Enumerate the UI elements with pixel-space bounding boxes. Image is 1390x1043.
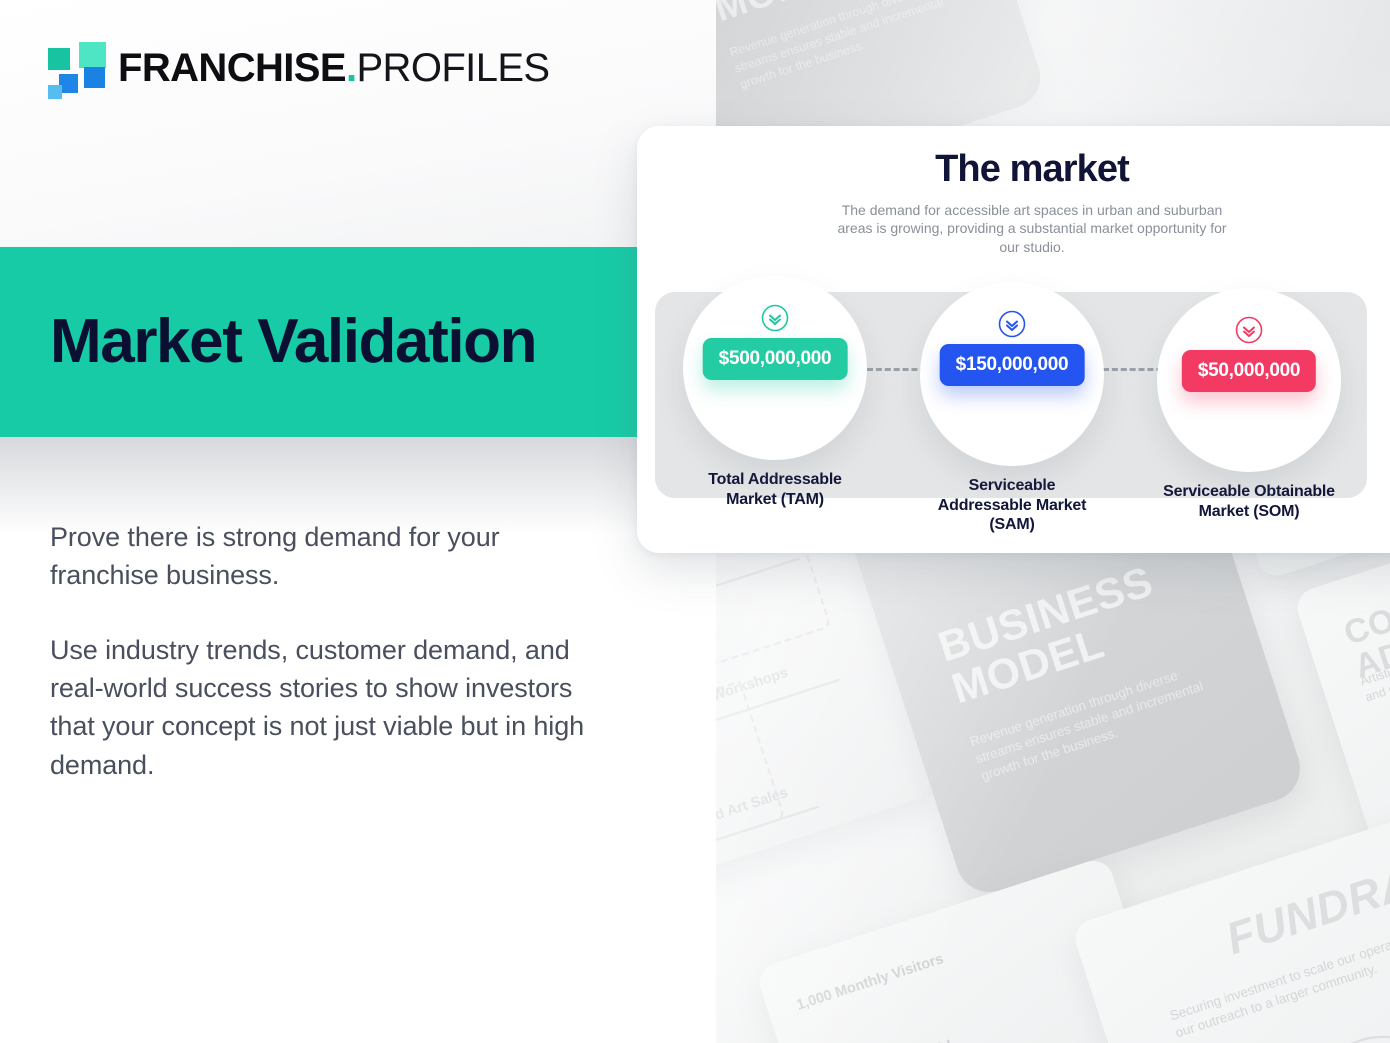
paragraph-2: Use industry trends, customer demand, an… xyxy=(50,631,590,784)
sam-value-badge: $150,000,000 xyxy=(940,344,1085,386)
brand-wordmark: FRANCHISE.PROFILES xyxy=(118,48,550,88)
brand-name-light: PROFILES xyxy=(356,46,549,90)
watermark-stat-monthly-visitors: 1,000 Monthly Visitors xyxy=(794,950,945,1013)
market-card: The market The demand for accessible art… xyxy=(637,126,1390,553)
tam-bubble: $500,000,000 xyxy=(683,276,867,460)
brand-name-bold: FRANCHISE xyxy=(118,46,346,90)
double-chevron-down-icon xyxy=(1235,316,1263,349)
double-chevron-down-icon xyxy=(998,310,1026,343)
sam-bubble: $150,000,000 xyxy=(920,282,1104,466)
market-card-header: The market The demand for accessible art… xyxy=(637,126,1390,256)
body-copy: Prove there is strong demand for your fr… xyxy=(50,518,590,784)
paragraph-1: Prove there is strong demand for your fr… xyxy=(50,518,590,595)
market-node-tam[interactable]: $500,000,000 Total Addressable Market (T… xyxy=(683,276,867,509)
tam-label: Total Addressable Market (TAM) xyxy=(683,470,867,509)
market-node-sam[interactable]: $150,000,000 Serviceable Addressable Mar… xyxy=(920,282,1104,535)
brand-logo[interactable]: FRANCHISE.PROFILES xyxy=(48,42,550,94)
som-label: Serviceable Obtainable Market (SOM) xyxy=(1157,482,1341,521)
title-banner: Market Validation xyxy=(0,247,637,437)
brand-name-dot: . xyxy=(346,46,357,90)
double-chevron-down-icon xyxy=(761,304,789,337)
tam-value-badge: $500,000,000 xyxy=(703,338,848,380)
page-title: Market Validation xyxy=(50,311,536,373)
watermark-title-fundraising: FUNDRAISING xyxy=(1221,822,1390,963)
sam-label: Serviceable Addressable Market (SAM) xyxy=(920,476,1104,535)
market-card-title: The market xyxy=(637,148,1390,191)
market-card-subtitle: The demand for accessible art spaces in … xyxy=(832,201,1232,256)
market-diagram: $500,000,000 Total Addressable Market (T… xyxy=(637,276,1390,536)
som-value-badge: $50,000,000 xyxy=(1182,350,1316,392)
watermark-stat-workshops-held: 75 Workshops Held xyxy=(821,1036,954,1043)
som-bubble: $50,000,000 xyxy=(1157,288,1341,472)
five-squares-logo-icon xyxy=(48,42,104,94)
market-node-som[interactable]: $50,000,000 Serviceable Obtainable Marke… xyxy=(1157,288,1341,521)
slide-canvas: $ Drop-In Fees Session Workshops Commiss… xyxy=(0,0,1390,1043)
